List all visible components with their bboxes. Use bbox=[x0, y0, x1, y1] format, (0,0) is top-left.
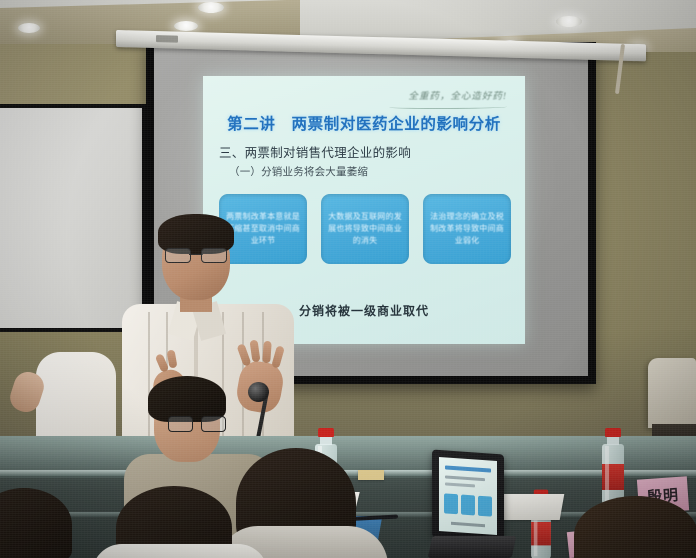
eyeglasses-icon bbox=[168, 416, 226, 430]
slide-blue-box-text: 大数据及互联网的发展也将导致中间商业的消失 bbox=[328, 211, 402, 247]
presenter-finger bbox=[262, 341, 272, 364]
paper-documents bbox=[358, 470, 384, 480]
eyeglasses-icon bbox=[165, 248, 227, 261]
conference-chair-cover bbox=[648, 358, 696, 428]
slide-handwritten-slogan: 全重药，全心造好药! bbox=[385, 88, 507, 104]
lecture-room-photo: 全重药，全心造好药! 第二讲 两票制对医药企业的影响分析 三、两票制对销售代理企… bbox=[0, 0, 696, 558]
slide-section-heading: 三、两票制对销售代理企业的影响 bbox=[219, 142, 411, 161]
laptop-slide-line bbox=[445, 475, 485, 481]
slide-subsection: （一）分销业务将会大量萎缩 bbox=[229, 164, 368, 179]
downlight-icon bbox=[174, 21, 198, 31]
laptop-slide-footer-line bbox=[451, 522, 485, 527]
laptop-screen bbox=[439, 457, 497, 535]
slide-blue-box: 大数据及互联网的发展也将导致中间商业的消失 bbox=[321, 194, 409, 264]
downlight-icon bbox=[18, 23, 40, 33]
slide-title: 第二讲 两票制对医药企业的影响分析 bbox=[203, 112, 525, 134]
downlight-icon bbox=[556, 16, 582, 27]
housing-brand-logo bbox=[156, 35, 178, 43]
laptop-slide-line bbox=[445, 482, 475, 487]
audience-shoulder bbox=[92, 544, 268, 558]
laptop-slide-title-line bbox=[445, 465, 491, 472]
laptop-keyboard-base[interactable] bbox=[428, 536, 517, 558]
laptop-slide-boxes bbox=[444, 493, 492, 516]
laptop-showing-slide[interactable] bbox=[432, 452, 514, 558]
downlight-icon bbox=[198, 2, 224, 13]
slide-slogan-underline bbox=[389, 105, 507, 109]
slide-blue-box: 法治理念的确立及税制改革将导致中间商业弱化 bbox=[423, 194, 511, 264]
slide-blue-box-text: 法治理念的确立及税制改革将导致中间商业弱化 bbox=[430, 211, 504, 247]
